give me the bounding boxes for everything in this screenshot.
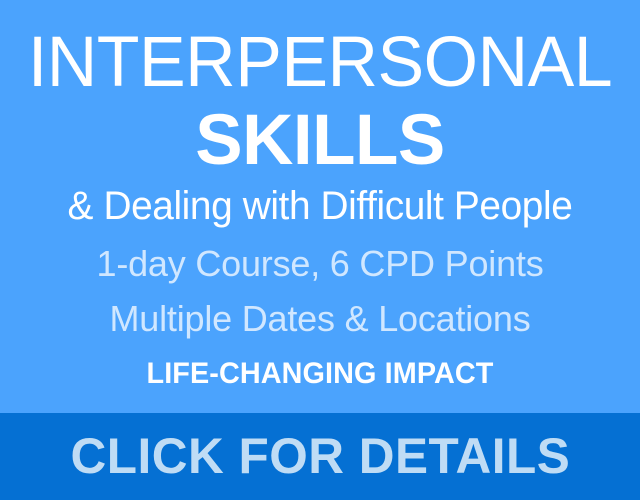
cta-button[interactable]: CLICK FOR DETAILS — [0, 413, 640, 500]
headline-line-2: SKILLS — [0, 105, 640, 176]
advertisement-banner[interactable]: INTERPERSONAL SKILLS & Dealing with Diff… — [0, 0, 640, 500]
tagline: LIFE-CHANGING IMPACT — [13, 359, 627, 389]
banner-content: INTERPERSONAL SKILLS & Dealing with Diff… — [0, 0, 640, 413]
course-detail-dates-locations: Multiple Dates & Locations — [0, 301, 640, 337]
headline-line-1: INTERPERSONAL — [5, 27, 635, 98]
course-detail-duration: 1-day Course, 6 CPD Points — [0, 246, 640, 282]
subheadline: & Dealing with Difficult People — [10, 186, 631, 226]
cta-button-label: CLICK FOR DETAILS — [70, 431, 570, 483]
